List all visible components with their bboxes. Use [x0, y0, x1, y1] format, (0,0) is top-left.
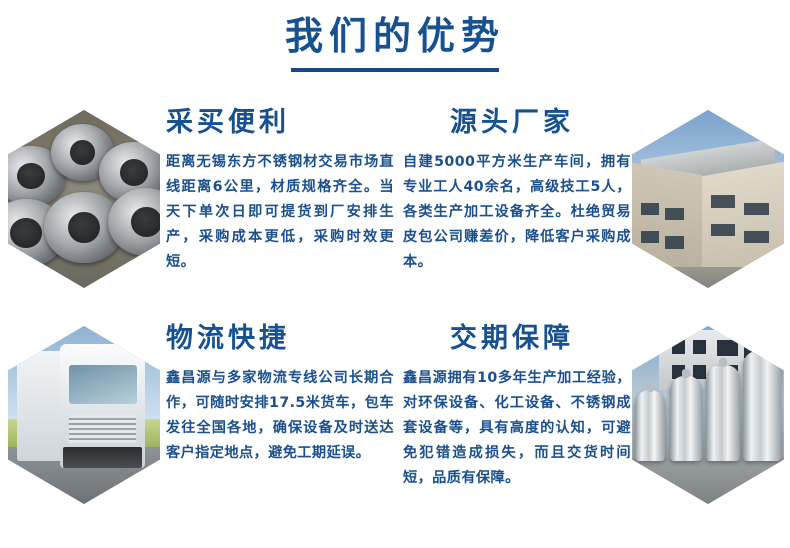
card-heading: 采买便利	[166, 106, 394, 140]
steel-coils-photo	[8, 110, 160, 288]
steel-coils-art	[8, 110, 160, 288]
advantages-grid: 采买便利 距离无锡东方不锈钢材交易市场直线距离6公里，材质规格齐全。当天下单次日…	[0, 96, 790, 548]
factory-building-art	[632, 110, 784, 288]
page-header: 我们的优势	[0, 14, 790, 72]
page-title: 我们的优势	[0, 14, 790, 58]
delivery-truck-photo	[8, 326, 160, 504]
card-body-text: 距离无锡东方不锈钢材交易市场直线距离6公里，材质规格齐全。当天下单次日即可提货到…	[166, 150, 394, 275]
advantages-page: 我们的优势 采买便利 距离无锡东方不锈钢材交易市场直线距离6公里，材质规格齐全。…	[0, 0, 790, 548]
card-heading: 物流快捷	[166, 322, 394, 356]
stainless-steel-tanks-art	[632, 326, 784, 504]
card-body-text: 鑫昌源与多家物流专线公司长期合作，可随时安排17.5米货车，包车发往全国各地，确…	[166, 366, 394, 466]
card-body-text: 自建5000平方米生产车间，拥有专业工人40余名，高级技工5人，各类生产加工设备…	[403, 150, 631, 275]
stainless-steel-tanks-photo	[632, 326, 784, 504]
advantage-card-logistics: 物流快捷 鑫昌源与多家物流专线公司长期合作，可随时安排17.5米货车，包车发往全…	[0, 312, 395, 528]
title-underline-divider	[291, 68, 499, 72]
card-text-block: 源头厂家 自建5000平方米生产车间，拥有专业工人40余名，高级技工5人，各类生…	[403, 106, 631, 275]
delivery-truck-art	[8, 326, 160, 504]
card-text-block: 物流快捷 鑫昌源与多家物流专线公司长期合作，可随时安排17.5米货车，包车发往全…	[166, 322, 394, 466]
factory-building-photo	[632, 110, 784, 288]
card-body-text: 鑫昌源拥有10多年生产加工经验，对环保设备、化工设备、不锈钢成套设备等，具有高度…	[403, 366, 631, 491]
card-heading: 源头厂家	[403, 106, 631, 140]
advantage-card-procurement: 采买便利 距离无锡东方不锈钢材交易市场直线距离6公里，材质规格齐全。当天下单次日…	[0, 96, 395, 312]
card-text-block: 采买便利 距离无锡东方不锈钢材交易市场直线距离6公里，材质规格齐全。当天下单次日…	[166, 106, 394, 275]
advantage-card-manufacturer: 源头厂家 自建5000平方米生产车间，拥有专业工人40余名，高级技工5人，各类生…	[395, 96, 790, 312]
card-text-block: 交期保障 鑫昌源拥有10多年生产加工经验，对环保设备、化工设备、不锈钢成套设备等…	[403, 322, 631, 491]
card-heading: 交期保障	[403, 322, 631, 356]
advantage-card-delivery-guarantee: 交期保障 鑫昌源拥有10多年生产加工经验，对环保设备、化工设备、不锈钢成套设备等…	[395, 312, 790, 528]
